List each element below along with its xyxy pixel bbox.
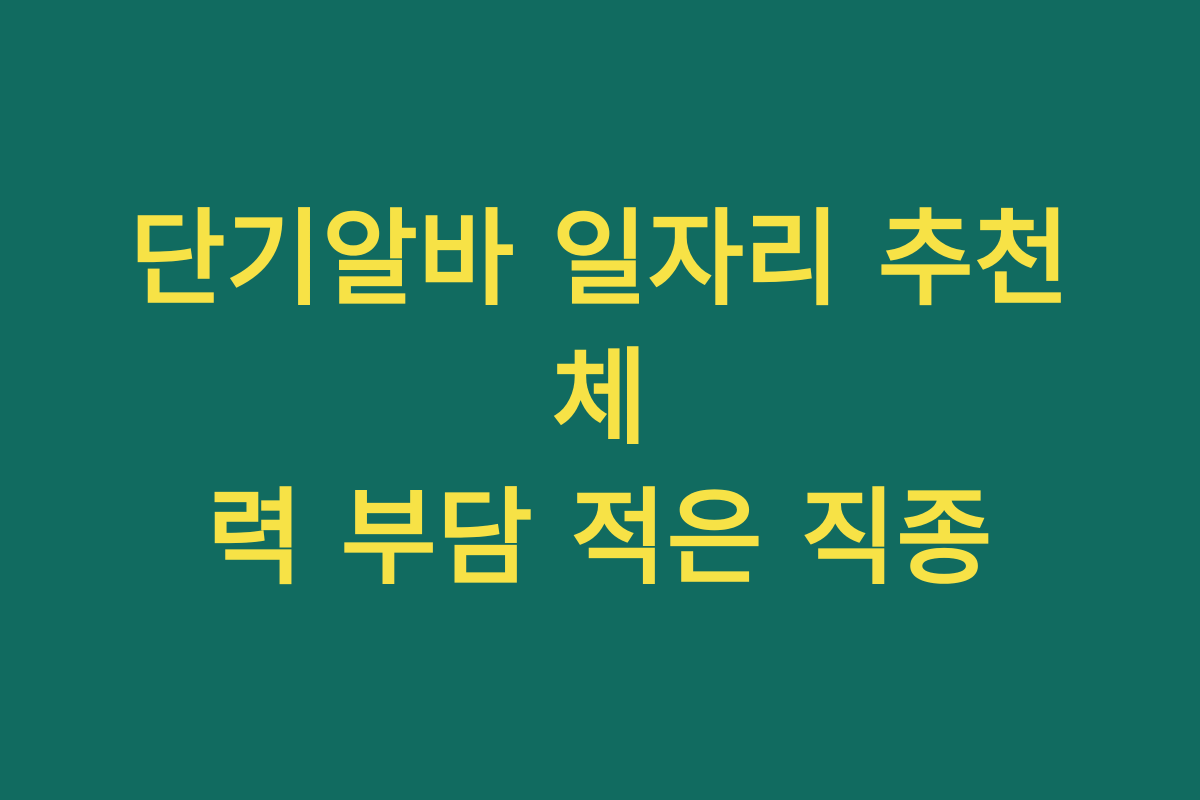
headline-block: 단기알바 일자리 추천 체 력 부담 적은 직종 — [70, 191, 1130, 609]
banner-canvas: 단기알바 일자리 추천 체 력 부담 적은 직종 — [0, 0, 1200, 800]
headline-text: 단기알바 일자리 추천 체 력 부담 적은 직종 — [70, 191, 1130, 609]
